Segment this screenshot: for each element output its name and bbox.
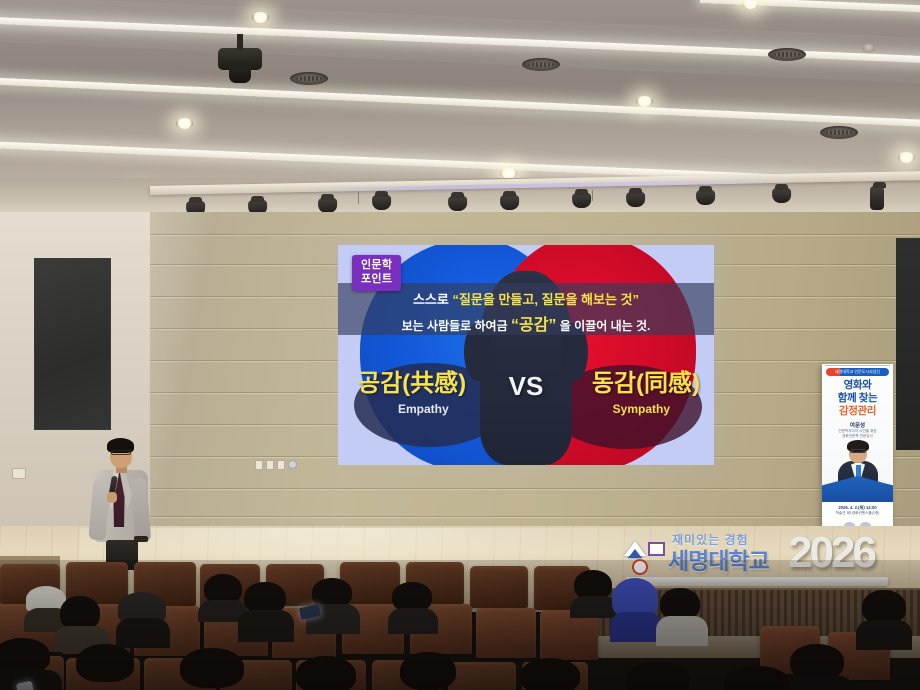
wall-switch-3[interactable] [277,460,285,470]
audience-head [180,648,244,688]
slide-line2-prefix: 보는 사람들로 하여금 [402,319,511,333]
slide-badge-line2: 포인트 [361,273,392,285]
slide-badge-line1: 인문학 [361,259,392,271]
audience-head [76,644,134,682]
stage-par-light-3 [318,198,337,213]
audience-shoulders [856,620,912,650]
stage-par-light-7 [572,193,591,208]
stage-par-light-5 [448,196,467,211]
projector-lens-icon [229,67,251,83]
light-hang-wire-1 [358,192,359,204]
slide-left-subtitle: Empathy [398,402,449,416]
auditorium-photo: 인문학 포인트 스스로 “질문을 만들고, 질문을 해보는 것” 보는 사람들로… [0,0,920,690]
wall-dark-panel-right [896,238,920,450]
audience-foreground-person-2 [76,644,140,690]
banner-affiliation: 인문학자이자 시민을 위한 영화인문학 전문강사 [822,429,893,440]
seat[interactable] [470,566,528,608]
audience-head [0,638,50,674]
presenter [86,440,156,568]
audience-head [60,596,100,630]
audience-person-5 [574,570,616,614]
audience-area [0,560,920,690]
slide-text-line-1: 스스로 “질문을 만들고, 질문을 해보는 것” [338,289,714,308]
audience-foreground-person-8 [724,666,796,690]
presentation-slide: 인문학 포인트 스스로 “질문을 만들고, 질문을 해보는 것” 보는 사람들로… [338,245,714,465]
audience-foreground-person-7 [626,662,696,690]
ceiling-speaker-1 [290,72,328,85]
banner-affiliation-line1: 인문학자이자 시민을 위한 [838,429,876,433]
logo-triangle-icon [624,541,646,556]
audience-person-with-glasses [244,582,292,640]
slide-left-term: 공감(共感) [358,363,466,398]
ceiling-spot-7 [898,152,915,163]
presenter-hand [107,492,117,503]
audience-person-1 [60,596,106,648]
ceiling-spot-3 [636,96,653,107]
audience-shoulders [388,608,438,634]
audience-person-2 [204,574,246,618]
audience-foreground-person-4 [296,656,362,690]
wall-control-panel[interactable] [255,459,299,470]
seat[interactable] [476,608,536,658]
banner-title-line3: 감정관리 [839,405,876,417]
presenter-arm-right [131,478,151,543]
wall-dark-panel-left [34,258,111,430]
stage-par-light-4 [372,195,391,210]
light-hang-wire-2 [592,190,593,201]
slide-right-subtitle: Sympathy [613,402,670,416]
projector-mount [237,34,243,50]
stage-par-light-9 [696,190,715,205]
audience-person-4 [392,582,436,632]
ceiling-spot-4 [176,118,193,129]
audience-person-with-black-cap [118,592,170,648]
slide-line2-suffix: 을 이끌어 내는 것. [556,319,650,333]
audience-foreground-person-3 [180,648,250,690]
projection-screen: 인문학 포인트 스스로 “질문을 만들고, 질문을 해보는 것” 보는 사람들로… [338,245,714,465]
stage-par-light-11 [870,186,884,210]
wall-knob-icon[interactable] [288,460,297,469]
ceiling-sensor-icon [862,44,875,53]
banner-title: 영화와 함께 찾는 감정관리 [822,379,893,417]
ceiling-speaker-4 [820,126,858,139]
audience-head [520,658,580,690]
audience-head [626,662,690,690]
presenter-glasses-icon [111,450,131,455]
slide-line2-highlight: “공감” [511,317,556,334]
banner-place: 학술관 제1영화컨벤스홀(1층) [822,511,893,516]
ceiling-spot-2 [742,0,759,9]
ceiling-light-strip-4 [700,0,920,16]
audience-shoulders [656,616,708,646]
ceiling-spot-1 [252,12,269,23]
audience-shoulders [570,596,618,618]
slide-line1-highlight: “질문을 만들고, 질문을 해보는 것” [452,292,639,307]
audience-shoulders [238,610,294,642]
stage-par-light-8 [626,192,645,207]
audience-head [400,652,456,690]
slide-badge-humanities-point: 인문학 포인트 [352,255,401,291]
rollup-banner: 세명대학교 인문도시사업단 영화와 함께 찾는 감정관리 여문성 인문학자이자 … [822,364,893,532]
audience-foreground-person-6 [520,658,586,690]
wall-switch-2[interactable] [266,460,274,470]
audience-foreground-person-5 [400,652,462,690]
ceiling-projector [218,48,262,70]
banner-eyebrow: 세명대학교 인문도시사업단 [826,368,889,376]
audience-person-7 [862,590,910,648]
banner-affiliation-line2: 영화인문학 전문강사 [842,434,873,438]
banner-title-line2: 함께 찾는 [838,392,878,404]
audience-person-with-blue-headscarf [612,578,662,640]
banner-title-line1: 영화와 [844,379,872,391]
slide-vs-label: VS [509,371,544,402]
stage-par-light-6 [500,195,519,210]
banner-speaker-name: 여문성 [822,421,893,429]
stage-par-light-10 [772,188,791,203]
ceiling-speaker-3 [768,48,806,61]
slide-text-line-2: 보는 사람들로 하여금 “공감” 을 이끌어 내는 것. [338,311,714,335]
audience-shoulders [610,612,662,642]
slide-line1-prefix: 스스로 [413,292,453,307]
banner-photo-glasses-icon [850,449,866,453]
audience-head [724,666,790,690]
audience-head [296,656,356,690]
audience-person-6 [660,588,706,644]
banner-top-rail [825,365,890,366]
ceiling [0,0,920,182]
logo-square-icon [648,542,665,556]
audience-person-8 [790,644,850,690]
wall-outlet [12,468,26,479]
slide-right-term: 동감(同感) [592,363,700,398]
banner-wave-graphic [822,476,893,502]
ceiling-speaker-2 [522,58,560,71]
audience-head [862,590,906,624]
wall-switch-1[interactable] [255,460,263,470]
audience-head [790,644,844,680]
